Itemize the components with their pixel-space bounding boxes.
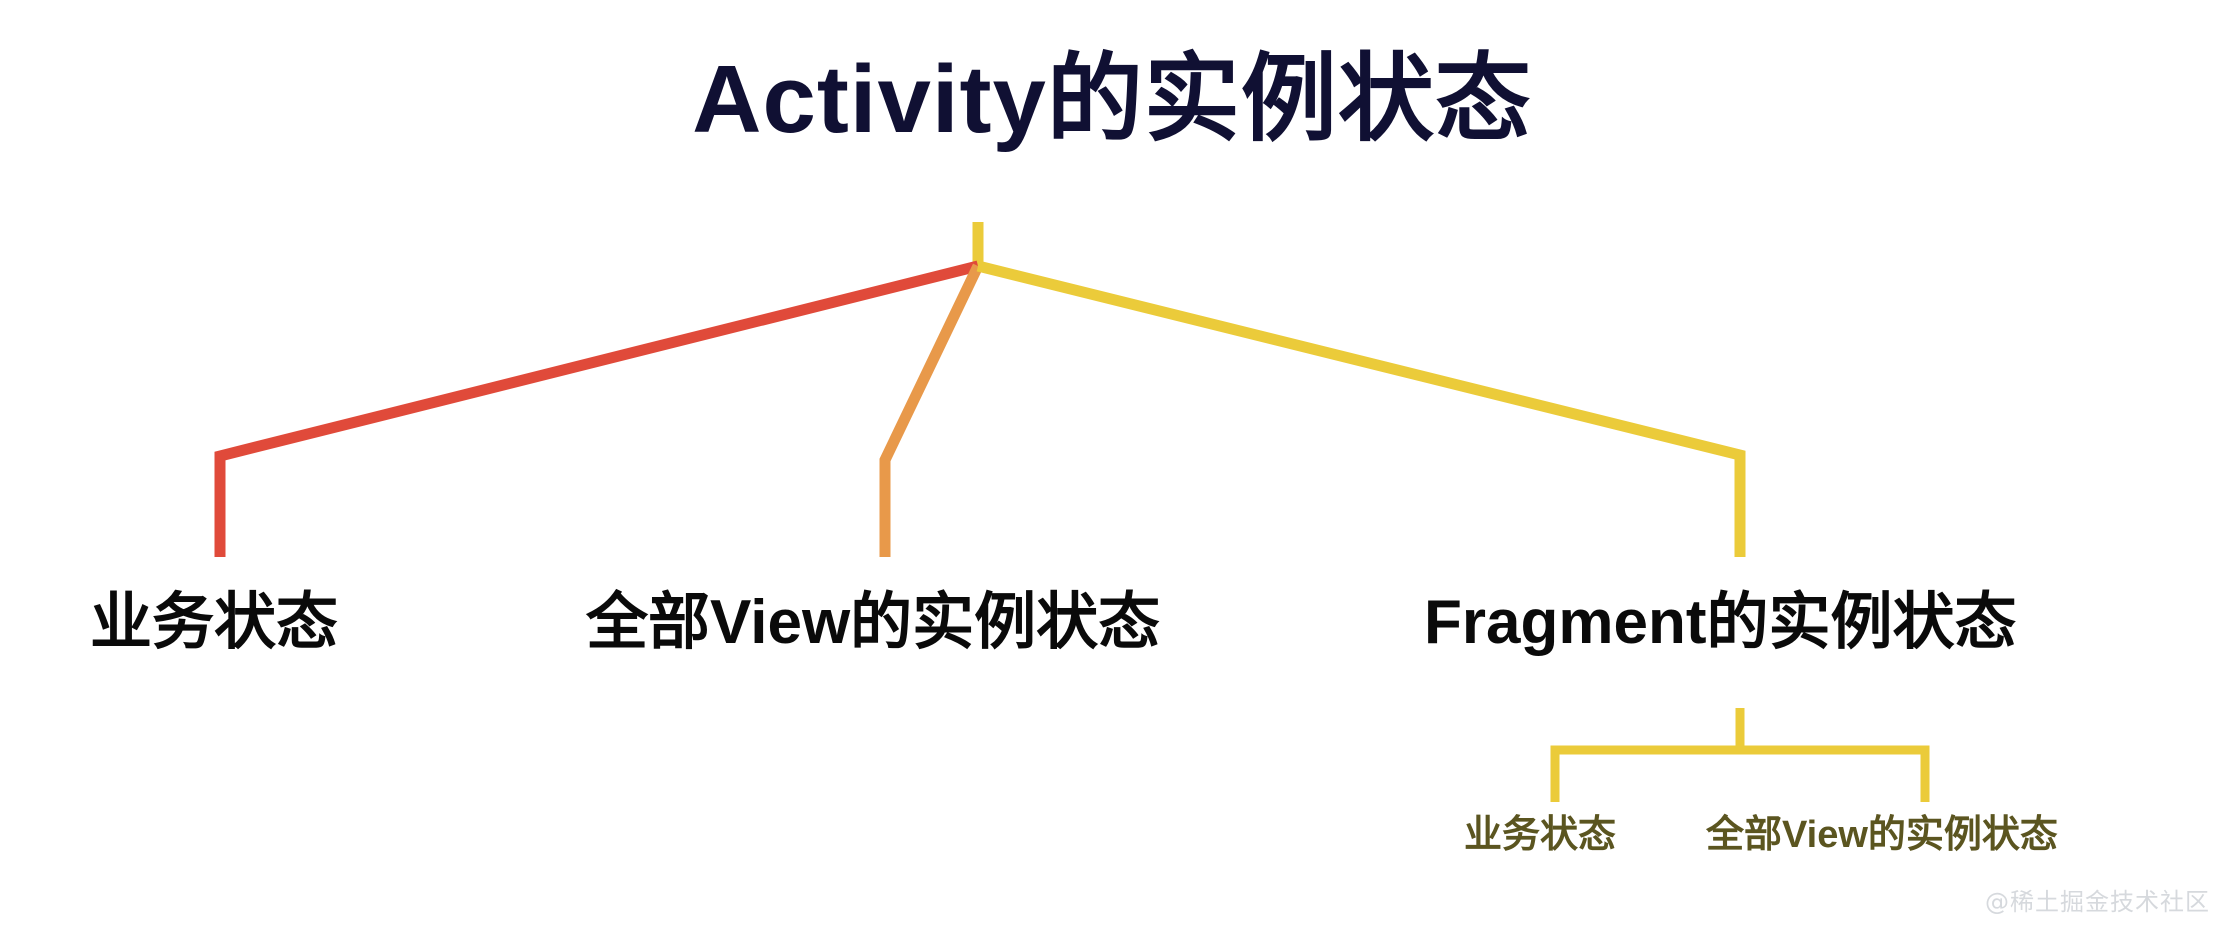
tree-connector-graphic bbox=[0, 0, 2224, 928]
diagram-canvas: Activity的实例状态 业务状态 全部View的实例状态 Fragment的… bbox=[0, 0, 2224, 928]
node-label-business-state: 业务状态 bbox=[90, 592, 338, 654]
sub-node-label-business-state: 业务状态 bbox=[1464, 816, 1616, 854]
connector-business-state bbox=[220, 266, 978, 557]
watermark-text: @稀土掘金技术社区 bbox=[1985, 890, 2210, 914]
connector-all-view-instance-state bbox=[885, 266, 978, 557]
sub-node-label-all-view-instance-state: 全部View的实例状态 bbox=[1706, 816, 2058, 854]
node-label-all-view-instance-state: 全部View的实例状态 bbox=[586, 592, 1160, 654]
sub-tree-bracket bbox=[1555, 750, 1925, 802]
connector-fragment-instance-state bbox=[978, 266, 1740, 557]
node-label-fragment-instance-state: Fragment的实例状态 bbox=[1424, 592, 2016, 654]
